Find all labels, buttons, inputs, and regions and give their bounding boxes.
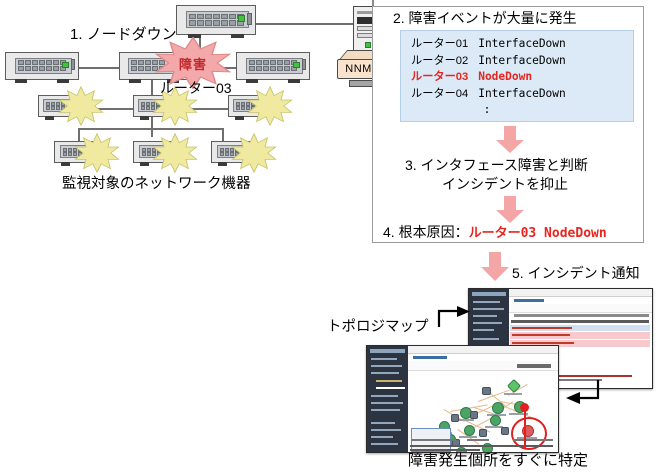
topology-map-screenshot[interactable]: [366, 345, 559, 453]
step5-label: 5. インシデント通知: [512, 265, 640, 281]
map-status-bar: [513, 439, 553, 441]
sidebar-item-tree[interactable]: [376, 380, 402, 382]
sidebar-item[interactable]: [371, 443, 398, 445]
app-menu-bar[interactable]: [509, 289, 652, 297]
device-foot: [218, 162, 227, 166]
map-footer-note: [410, 445, 553, 447]
event-row: ルーター01InterfaceDown: [411, 36, 623, 53]
status-led-icon: [238, 15, 245, 22]
event-list-ellipsis: :: [411, 102, 623, 118]
step3-line1: 3. インタフェース障害と判断: [405, 157, 588, 173]
incident-row-text: [512, 342, 574, 344]
sidebar-item[interactable]: [473, 315, 497, 317]
network-device-top[interactable]: [176, 5, 256, 35]
device-foot: [57, 79, 69, 83]
nnmi-label: NNMi: [345, 63, 375, 75]
step4-prefix: 4. 根本原因：: [383, 224, 469, 240]
step2-heading: 2. 障害イベントが大量に発生: [393, 10, 577, 26]
event-name: InterfaceDown: [478, 37, 566, 50]
map-canvas[interactable]: [408, 371, 558, 436]
uplink-slot-icon: [302, 59, 306, 70]
step3-line2: インシデントを抑止: [442, 176, 568, 192]
sidebar-item[interactable]: [473, 322, 502, 324]
device-foot: [129, 79, 141, 83]
device-foot: [231, 34, 244, 38]
network-caption: 監視対象のネットワーク機器: [62, 176, 251, 193]
device-foot: [246, 79, 258, 83]
map-node-square[interactable]: [479, 429, 487, 437]
alarm-starburst-icon: [74, 133, 120, 173]
event-node: ルーター04: [411, 88, 468, 100]
flow-arrow-down-3: [480, 252, 510, 282]
topology-map-label: トポロジマップ: [327, 319, 429, 336]
incident-row-text: [512, 334, 570, 336]
event-node: ルーター03: [411, 71, 468, 83]
sidebar-item[interactable]: [371, 395, 398, 397]
router03-label: ルーター03: [160, 80, 232, 96]
filter-row: [514, 314, 649, 317]
event-list-box: ルーター01InterfaceDown ルーター02InterfaceDown …: [400, 30, 634, 122]
app-title-bar: [472, 292, 506, 296]
device-foot: [45, 116, 54, 120]
arrow-to-incident-list: [437, 306, 471, 328]
sidebar-item[interactable]: [371, 358, 397, 360]
alarm-starburst-icon: [58, 86, 104, 126]
event-name: InterfaceDown: [478, 54, 566, 67]
map-node-diamond[interactable]: [507, 379, 521, 393]
map-node[interactable]: [490, 415, 501, 426]
server-power-led-icon: [365, 42, 371, 48]
sidebar-item-selected[interactable]: [376, 387, 405, 389]
event-node: ルーター02: [411, 55, 468, 67]
event-row: ルーター04InterfaceDown: [411, 86, 623, 103]
incident-row-text: [512, 327, 572, 329]
status-led-icon: [62, 62, 69, 68]
event-row: ルーター02InterfaceDown: [411, 53, 623, 70]
map-node[interactable]: [464, 425, 475, 436]
sidebar-item[interactable]: [371, 422, 395, 424]
bottom-caption: 障害発生個所をすぐに特定: [408, 452, 588, 469]
map-node[interactable]: [492, 402, 504, 414]
map-status-bar: [467, 439, 489, 441]
map-footer-note: [410, 449, 480, 451]
event-node: ルーター01: [411, 38, 468, 50]
failure-callout-line: [524, 410, 526, 448]
map-node-square[interactable]: [470, 411, 478, 419]
device-foot: [15, 79, 27, 83]
app-menu-bar[interactable]: [408, 346, 558, 354]
network-device-left[interactable]: [5, 52, 79, 80]
map-node-label: [504, 393, 522, 395]
event-name: InterfaceDown: [478, 87, 566, 100]
step1-label: 1. ノードダウン: [70, 26, 177, 43]
map-node-label: [459, 436, 477, 438]
device-foot: [235, 116, 244, 120]
map-node-square[interactable]: [451, 414, 459, 422]
uplink-slot-icon: [71, 59, 75, 70]
sidebar-item[interactable]: [473, 329, 494, 331]
sidebar-item[interactable]: [473, 338, 499, 340]
app-toolbar[interactable]: [509, 304, 652, 313]
sidebar-item[interactable]: [473, 308, 504, 310]
app-sidebar: [367, 346, 408, 452]
event-row-highlighted: ルーター03NodeDown: [411, 69, 623, 86]
fault-badge-label: 障害: [179, 54, 207, 73]
link-left-to-center: [78, 67, 122, 69]
map-status-bar: [411, 439, 456, 441]
device-foot: [140, 116, 149, 120]
table-header: [511, 320, 649, 323]
alarm-starburst-icon: [152, 133, 198, 173]
flow-arrow-down-1: [495, 126, 525, 154]
event-name: NodeDown: [478, 70, 532, 83]
alarm-starburst-icon: [247, 86, 293, 126]
link-bottom-bus: [78, 128, 224, 130]
map-node-square[interactable]: [501, 427, 509, 435]
device-foot: [61, 162, 70, 166]
sidebar-item[interactable]: [371, 402, 403, 404]
app-title-bar: [370, 349, 405, 353]
toolbar-right-buttons[interactable]: [517, 364, 551, 368]
view-title: [514, 299, 544, 302]
alarm-starburst-icon: [231, 133, 277, 173]
view-title: [413, 356, 447, 359]
uplink-slot-icon: [247, 13, 252, 25]
device-foot: [140, 162, 149, 166]
sidebar-item[interactable]: [371, 436, 393, 438]
network-device-right[interactable]: [236, 52, 310, 80]
flow-arrow-down-2: [495, 196, 525, 224]
step4-cause: ルーター03 NodeDown: [469, 226, 607, 241]
step4-row: 4. 根本原因：ルーター03 NodeDown: [383, 224, 607, 242]
sidebar-item[interactable]: [371, 365, 402, 367]
sidebar-item[interactable]: [371, 372, 399, 374]
device-foot: [288, 79, 300, 83]
sidebar-item[interactable]: [473, 301, 500, 303]
map-node-square[interactable]: [482, 387, 491, 395]
sidebar-item[interactable]: [371, 409, 400, 411]
sidebar-item[interactable]: [371, 429, 401, 431]
status-led-icon: [293, 62, 300, 68]
